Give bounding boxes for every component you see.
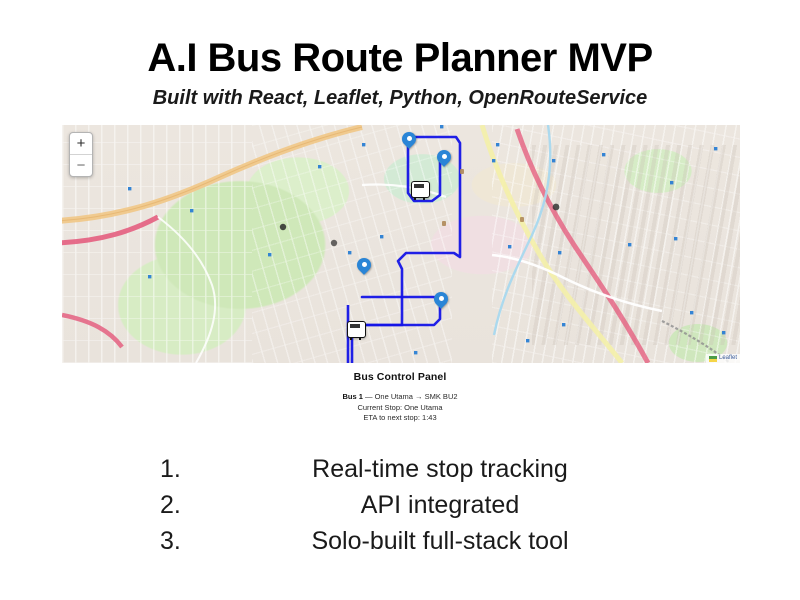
bus-marker-2[interactable] — [347, 321, 366, 338]
eta-label: ETA to next stop: 1:43 — [0, 413, 800, 424]
marker-center-dot — [362, 262, 367, 267]
page-subtitle: Built with React, Leaflet, Python, OpenR… — [0, 86, 800, 110]
list-item: 3. Solo-built full-stack tool — [0, 527, 800, 563]
map-zoom-control[interactable]: + − — [69, 132, 93, 177]
current-stop-label: Current Stop: One Utama — [0, 403, 800, 414]
bus-marker-1[interactable] — [411, 181, 430, 198]
list-item: 1. Real-time stop tracking — [0, 455, 800, 491]
panel-route-line: Bus 1 — One Utama → SMK BU2 — [0, 392, 800, 403]
feature-text: Solo-built full-stack tool — [200, 527, 800, 556]
feature-text: Real-time stop tracking — [200, 455, 800, 484]
feature-number: 2. — [0, 491, 200, 520]
panel-title: Bus Control Panel — [0, 371, 800, 383]
list-item: 2. API integrated — [0, 491, 800, 527]
map-vector-layer — [62, 125, 740, 363]
page-title: A.I Bus Route Planner MVP — [0, 36, 800, 80]
zoom-out-button[interactable]: − — [70, 154, 92, 176]
feature-number: 3. — [0, 527, 200, 556]
feature-number: 1. — [0, 455, 200, 484]
leaflet-flag-icon — [709, 356, 717, 362]
stop-marker-4[interactable] — [434, 292, 448, 312]
route-summary-label: — One Utama → SMK BU2 — [365, 392, 458, 401]
panel-details: Bus 1 — One Utama → SMK BU2 Current Stop… — [0, 392, 800, 424]
bus-id-label: Bus 1 — [342, 392, 362, 401]
marker-center-dot — [442, 154, 447, 159]
marker-center-dot — [407, 136, 412, 141]
stop-marker-2[interactable] — [437, 150, 451, 170]
stop-marker-3[interactable] — [357, 258, 371, 278]
leaflet-map[interactable]: + − Leaflet — [62, 125, 740, 363]
map-attribution[interactable]: Leaflet — [706, 354, 740, 363]
marker-center-dot — [439, 296, 444, 301]
stop-marker-1[interactable] — [402, 132, 416, 152]
feature-list: 1. Real-time stop tracking 2. API integr… — [0, 455, 800, 563]
zoom-in-button[interactable]: + — [70, 133, 92, 154]
attribution-label[interactable]: Leaflet — [719, 354, 737, 363]
bus-control-panel: Bus Control Panel Bus 1 — One Utama → SM… — [0, 371, 800, 424]
feature-text: API integrated — [200, 491, 800, 520]
